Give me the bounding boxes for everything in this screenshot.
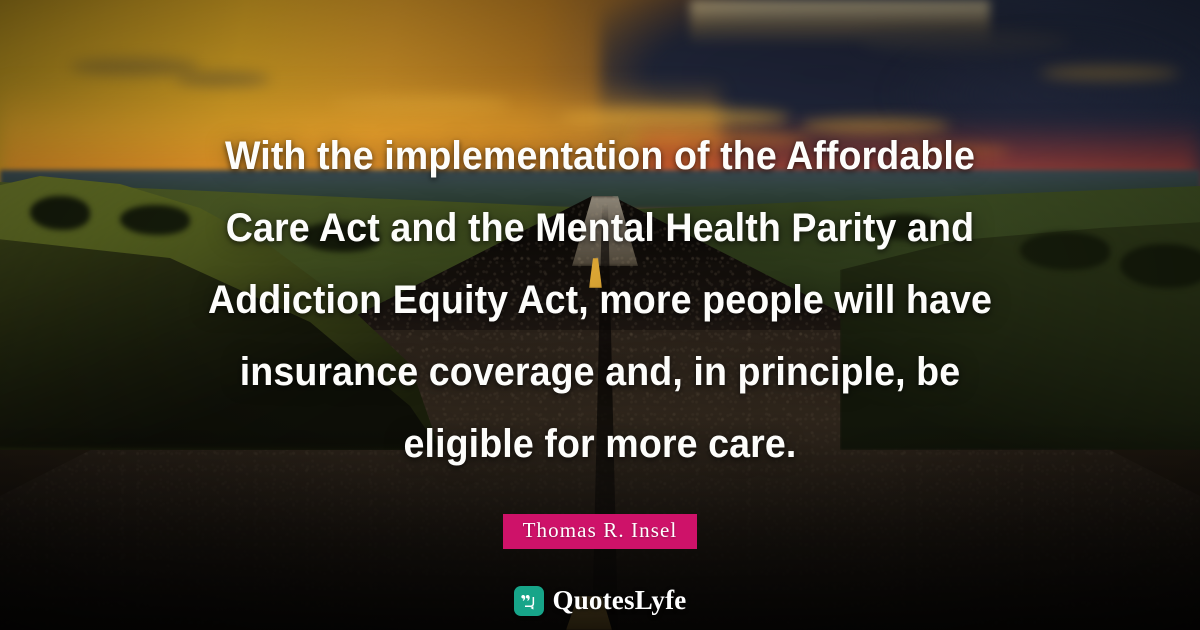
- quote-line: insurance coverage and, in principle, be: [125, 336, 1074, 408]
- brand-logo[interactable]: QuotesLyfe: [514, 585, 687, 616]
- quote-line: Addiction Equity Act, more people will h…: [125, 264, 1074, 336]
- author-name-badge[interactable]: Thomas R. Insel: [503, 514, 698, 549]
- quote-line: eligible for more care.: [125, 408, 1074, 480]
- quote-line: With the implementation of the Affordabl…: [125, 120, 1074, 192]
- quote-line: Care Act and the Mental Health Parity an…: [125, 192, 1074, 264]
- brand-name: QuotesLyfe: [553, 585, 687, 616]
- quote-text: With the implementation of the Affordabl…: [125, 120, 1074, 480]
- quote-card: With the implementation of the Affordabl…: [0, 0, 1200, 630]
- content-layer: With the implementation of the Affordabl…: [0, 0, 1200, 630]
- quote-marks-icon: [514, 586, 544, 616]
- author-attribution: Thomas R. Insel: [503, 514, 698, 549]
